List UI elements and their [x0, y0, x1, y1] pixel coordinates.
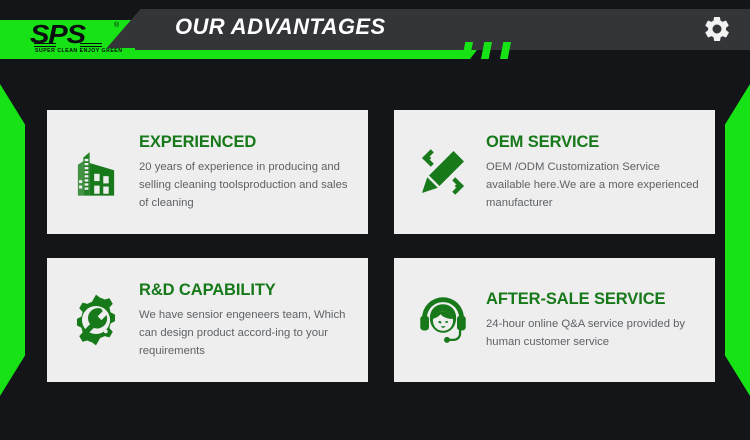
- gear-icon[interactable]: [702, 14, 732, 44]
- brand-logo: SPS ® SUPER CLEAN ENJOY GREEN: [30, 21, 140, 59]
- advantage-card-grid: EXPERIENCED 20 years of experience in pr…: [47, 110, 715, 382]
- gear-wrench-icon: [63, 287, 129, 353]
- slash-icon: [500, 42, 511, 59]
- advantage-card-after-sale-service[interactable]: AFTER-SALE SERVICE 24-hour online Q&A se…: [394, 258, 715, 382]
- right-accent-shape: [725, 84, 750, 396]
- left-accent-shape: [0, 84, 25, 396]
- card-description: We have sensior engeneers team, Which ca…: [139, 306, 354, 360]
- pencil-design-icon: [410, 139, 476, 205]
- logo-registered-mark: ®: [114, 22, 119, 29]
- card-text: EXPERIENCED 20 years of experience in pr…: [139, 133, 354, 212]
- card-title: OEM SERVICE: [486, 133, 701, 152]
- building-icon: [63, 139, 129, 205]
- card-text: R&D CAPABILITY We have sensior engeneers…: [139, 281, 354, 360]
- card-title: AFTER-SALE SERVICE: [486, 290, 701, 309]
- card-description: 24-hour online Q&A service provided by h…: [486, 315, 701, 351]
- advantage-card-rd-capability[interactable]: R&D CAPABILITY We have sensior engeneers…: [47, 258, 368, 382]
- slash-icon: [481, 42, 492, 59]
- card-description: OEM /ODM Customization Service available…: [486, 158, 701, 212]
- card-title: R&D CAPABILITY: [139, 281, 354, 300]
- slash-icon: [462, 42, 473, 59]
- card-title: EXPERIENCED: [139, 133, 354, 152]
- advantage-card-oem-service[interactable]: OEM SERVICE OEM /ODM Customization Servi…: [394, 110, 715, 234]
- header: SPS ® SUPER CLEAN ENJOY GREEN OUR ADVANT…: [0, 0, 750, 75]
- card-description: 20 years of experience in producing and …: [139, 158, 354, 212]
- page-title: OUR ADVANTAGES: [175, 14, 386, 40]
- advantages-banner: SPS ® SUPER CLEAN ENJOY GREEN OUR ADVANT…: [0, 0, 750, 440]
- advantage-card-experienced[interactable]: EXPERIENCED 20 years of experience in pr…: [47, 110, 368, 234]
- decorative-slashes: [462, 42, 524, 59]
- card-text: AFTER-SALE SERVICE 24-hour online Q&A se…: [486, 290, 701, 351]
- headset-support-icon: [410, 287, 476, 353]
- logo-tagline: SUPER CLEAN ENJOY GREEN: [35, 48, 135, 54]
- logo-rule-lines: [34, 43, 126, 47]
- card-text: OEM SERVICE OEM /ODM Customization Servi…: [486, 133, 701, 212]
